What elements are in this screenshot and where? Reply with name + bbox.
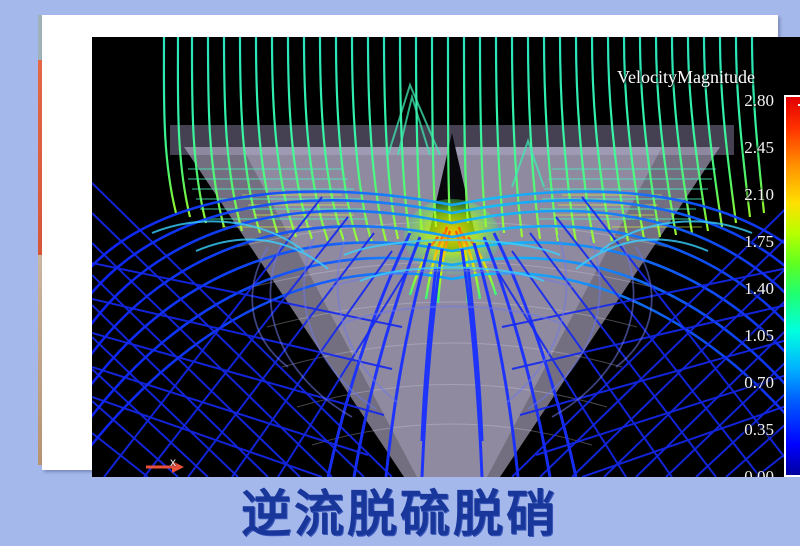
- colorbar-tick-label: 2.10: [716, 185, 774, 205]
- colorbar-tick-label: 0.35: [716, 420, 774, 440]
- colorbar-tick-label: 1.40: [716, 279, 774, 299]
- streamline-scene: [92, 37, 800, 477]
- vessel-geometry: [170, 125, 734, 477]
- axis-label-x: x: [170, 455, 176, 469]
- colorbar-tick-label: 1.05: [716, 326, 774, 346]
- page-root: VelocityMagnitude 2.80 2.45 2.10 1.75 1.…: [0, 0, 800, 542]
- colorbar-tick-label: 2.45: [716, 138, 774, 158]
- legend-title: VelocityMagnitude: [617, 67, 755, 88]
- colorbar-tick-label: 1.75: [716, 232, 774, 252]
- image-frame: VelocityMagnitude 2.80 2.45 2.10 1.75 1.…: [42, 15, 778, 470]
- colorbar: [784, 95, 800, 477]
- render-canvas: VelocityMagnitude 2.80 2.45 2.10 1.75 1.…: [92, 37, 800, 477]
- colorbar-tick-label: 2.80: [716, 91, 774, 111]
- colorbar-tick-label: 0.70: [716, 373, 774, 393]
- figure-caption: 逆流脱硫脱硝: [0, 474, 800, 546]
